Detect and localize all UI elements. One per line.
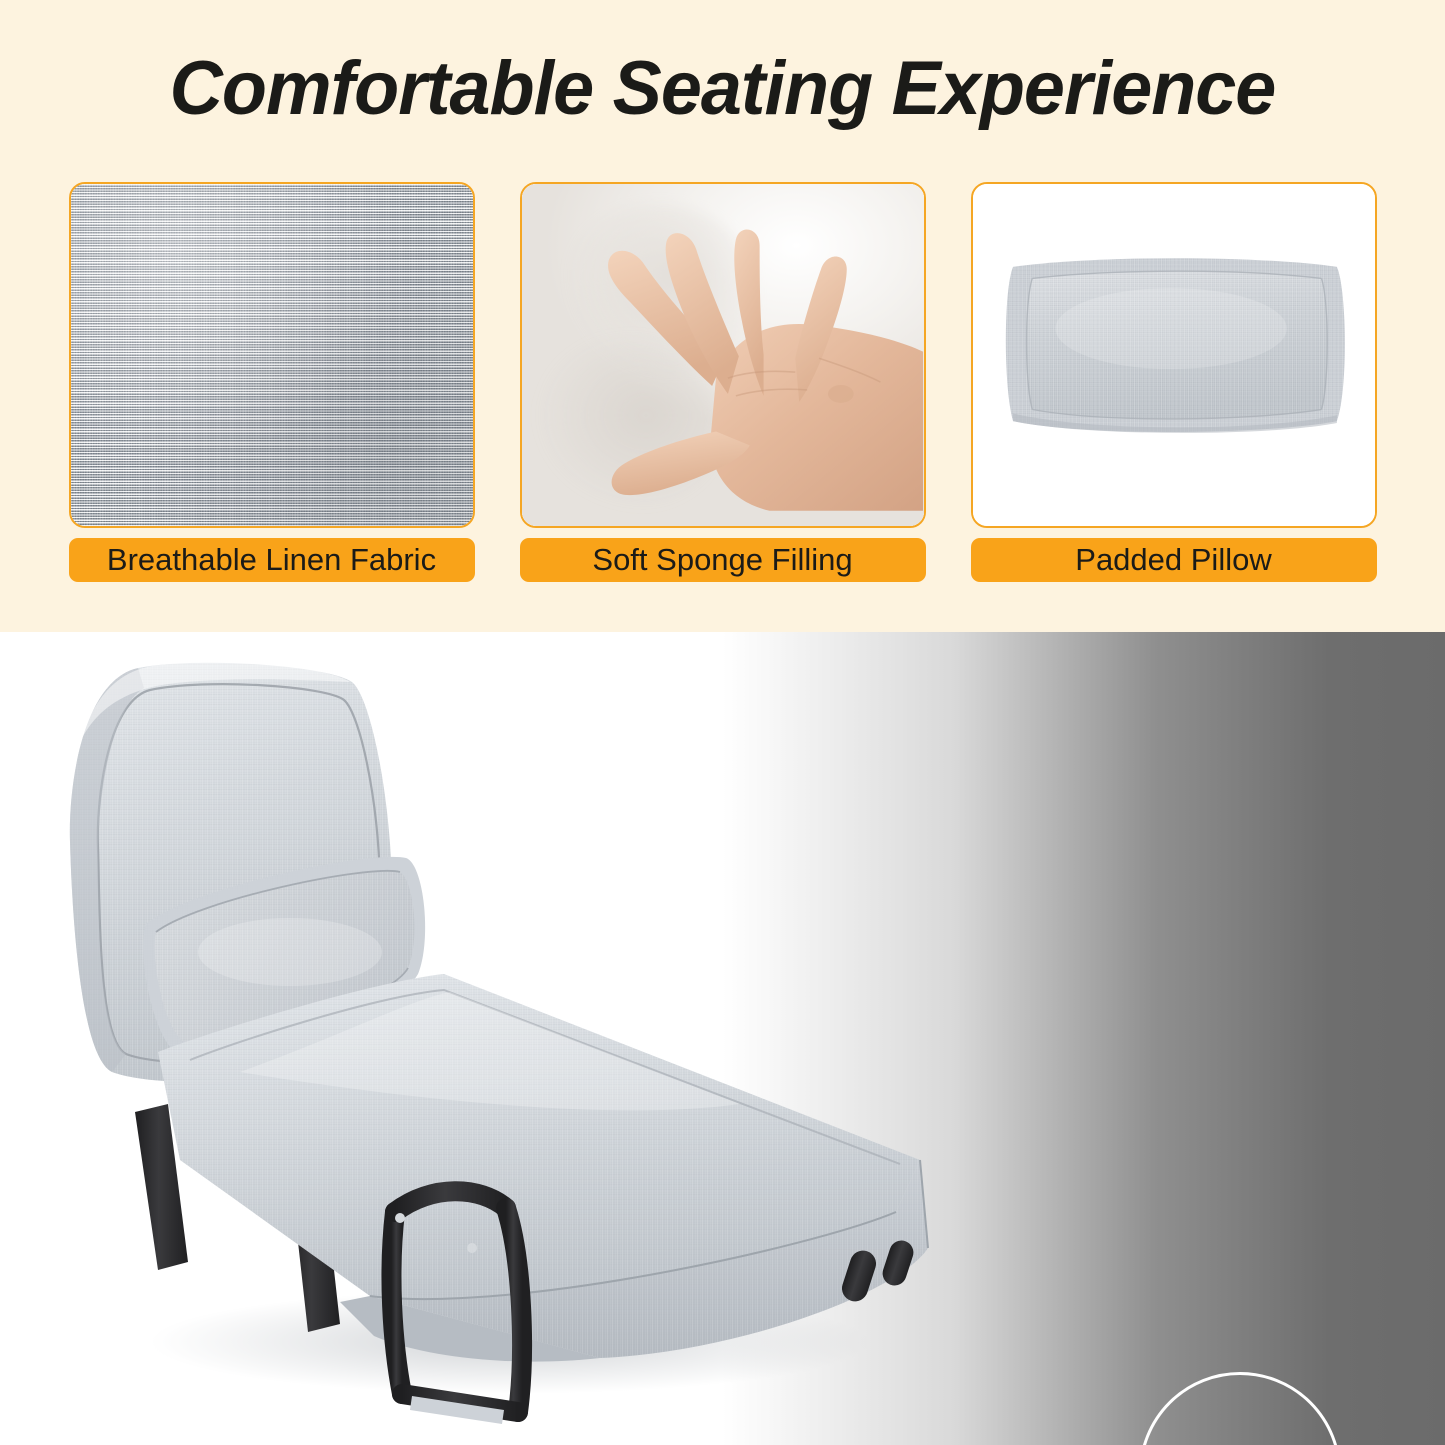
product-showcase-panel: Skin-friendly (0, 632, 1445, 1445)
skin-friendly-ring (1139, 1372, 1341, 1445)
woven-linen-texture (71, 184, 473, 526)
frame-bolt (467, 1243, 477, 1253)
hand-illustration (522, 184, 924, 526)
lumbar-pillow-illustration (973, 184, 1375, 526)
feature-card-list: Breathable Linen Fabric (0, 182, 1445, 582)
product-image-chaise-lounge (40, 652, 960, 1442)
frame-bolt (395, 1213, 405, 1223)
page-title: Comfortable Seating Experience (22, 47, 1424, 131)
feature-label-pillow: Padded Pillow (971, 538, 1377, 582)
hand-over-fabric-icon (1142, 1375, 1342, 1445)
foam-photo (522, 184, 924, 526)
feature-card-linen[interactable]: Breathable Linen Fabric (69, 182, 475, 582)
badge-skin-friendly: Skin-friendly (1090, 1372, 1390, 1445)
pillow-photo (973, 184, 1375, 526)
feature-card-sponge[interactable]: Soft Sponge Filling (520, 182, 926, 582)
linen-swatch-image (69, 182, 475, 528)
feature-card-pillow[interactable]: Padded Pillow (971, 182, 1377, 582)
feature-label-linen: Breathable Linen Fabric (69, 538, 475, 582)
hand-on-foam-image (520, 182, 926, 528)
feature-label-sponge: Soft Sponge Filling (520, 538, 926, 582)
features-panel: Comfortable Seating Experience Breathabl… (0, 0, 1445, 632)
pillow-image (971, 182, 1377, 528)
